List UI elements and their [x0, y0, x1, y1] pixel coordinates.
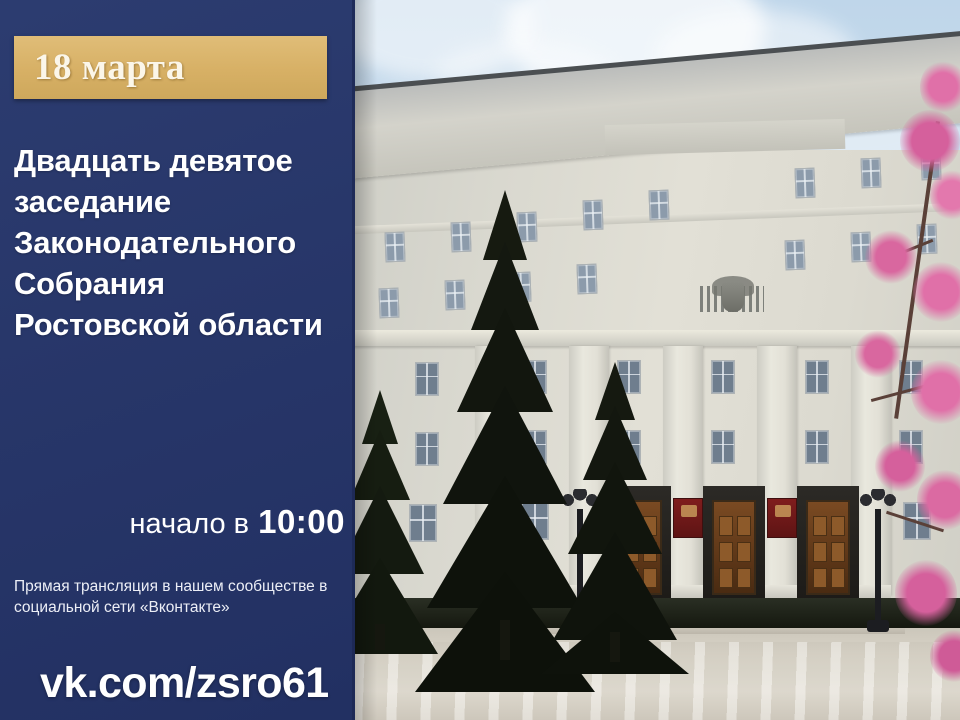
building-plaque — [767, 498, 797, 538]
window — [711, 430, 735, 464]
info-panel: 18 марта Двадцать девятое заседание Зако… — [0, 0, 355, 720]
window — [805, 360, 829, 394]
entrance-door[interactable] — [712, 500, 756, 595]
window — [805, 430, 829, 464]
start-time: начало в10:00 — [0, 503, 345, 541]
building-photo — [355, 0, 960, 720]
poster-root: 18 марта Двадцать девятое заседание Зако… — [0, 0, 960, 720]
blossom-cluster — [865, 230, 917, 284]
window — [794, 168, 815, 199]
window — [711, 360, 735, 394]
window — [648, 190, 669, 221]
blossom-cluster — [875, 440, 925, 492]
window — [784, 240, 805, 271]
conifer-tree — [540, 362, 690, 662]
vk-link[interactable]: vk.com/zsro61 — [40, 659, 329, 708]
blossom-cluster — [900, 110, 960, 172]
page-title: Двадцать девятое заседание Законодательн… — [14, 140, 344, 345]
street-lamp-icon — [875, 509, 881, 624]
coat-of-arms-icon — [700, 272, 764, 334]
broadcast-note: Прямая трансляция в нашем сообществе в с… — [14, 577, 344, 618]
start-time-label: начало в — [130, 508, 250, 540]
window — [384, 232, 405, 263]
panel-shadow — [355, 0, 377, 720]
window — [378, 288, 399, 319]
blossom-cluster — [913, 262, 960, 322]
blossom-cluster — [895, 560, 957, 626]
date-label: 18 марта — [34, 46, 185, 89]
window — [860, 158, 881, 189]
blossom-cluster — [855, 330, 901, 378]
date-banner: 18 марта — [14, 36, 327, 99]
start-time-value: 10:00 — [258, 503, 345, 540]
blossom-cluster — [920, 60, 960, 114]
parapet — [605, 119, 846, 155]
entrance-door[interactable] — [806, 500, 850, 595]
